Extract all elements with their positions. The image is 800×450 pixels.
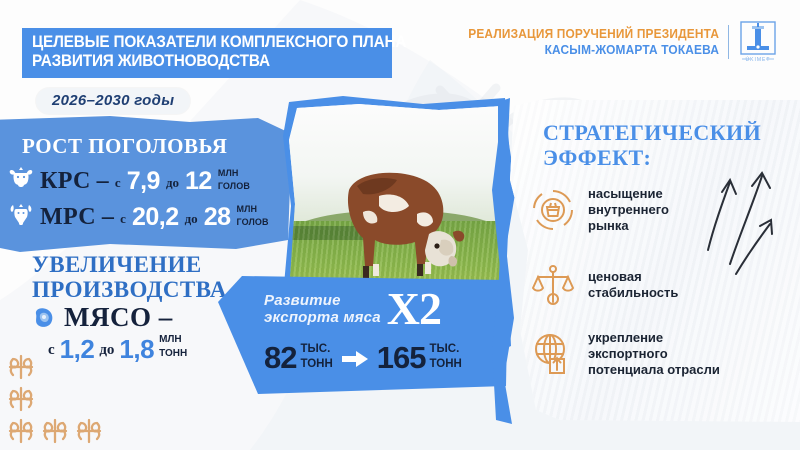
- export-from-unit: ТЫС. ТОНН: [300, 343, 332, 373]
- president-mandate-line-1: РЕАЛИЗАЦИЯ ПОРУЧЕНИЙ ПРЕЗИДЕНТА: [468, 27, 719, 41]
- strategic-heading: СТРАТЕГИЧЕСКИЙ ЭФФЕКТ:: [543, 120, 761, 170]
- cattle-head-icon: [8, 166, 34, 192]
- strategic-item-1-line-3: рынка: [588, 218, 669, 234]
- strategic-item-3-line-2: экспортного: [588, 346, 720, 362]
- export-caption-line-2: экспорта мяса: [264, 309, 381, 326]
- strategic-item-2-line-1: ценовая: [588, 269, 678, 285]
- export-to-unit-line1: ТЫС.: [430, 343, 462, 358]
- livestock-from-krs: 7,9: [127, 168, 160, 194]
- livestock-dash-krs: –: [97, 168, 109, 194]
- export-to-value: 165: [377, 342, 426, 373]
- livestock-unit-krs: МЛН ГОЛОВ: [218, 169, 250, 194]
- livestock-label-mrs: МРС: [40, 204, 96, 230]
- president-mandate-text: РЕАЛИЗАЦИЯ ПОРУЧЕНИЙ ПРЕЗИДЕНТА КАСЫМ-ЖО…: [455, 27, 719, 57]
- livestock-to-mrs: 28: [204, 204, 231, 230]
- president-mandate-block: РЕАЛИЗАЦИЯ ПОРУЧЕНИЙ ПРЕЗИДЕНТА КАСЫМ-ЖО…: [455, 20, 782, 64]
- strategic-item-2-text: ценовая стабильность: [588, 269, 678, 301]
- export-to-unit-line2: ТОНН: [430, 358, 462, 373]
- divider: [728, 25, 729, 59]
- export-values-block: 82 ТЫС. ТОНН 165 ТЫС. ТОНН: [264, 342, 462, 373]
- production-unit-line2: ТОНН: [159, 349, 187, 363]
- globe-export-icon: [530, 331, 576, 377]
- livestock-unit-krs-line2: ГОЛОВ: [218, 182, 250, 195]
- export-from-unit-line2: ТОНН: [300, 358, 332, 373]
- strategic-item-1: насыщение внутреннего рынка: [530, 186, 669, 234]
- page-title-line-2: РАЗВИТИЯ ЖИВОТНОВОДСТВА: [32, 52, 356, 71]
- livestock-to-prefix-mrs: до: [185, 211, 198, 230]
- livestock-to-krs: 12: [185, 168, 212, 194]
- three-up-arrows-icon: [700, 168, 790, 278]
- export-caption: Развитие экспорта мяса: [264, 292, 381, 326]
- export-caption-block: Развитие экспорта мяса X2: [264, 288, 441, 330]
- livestock-from-prefix-krs: с: [115, 175, 121, 194]
- livestock-from-mrs: 20,2: [132, 204, 179, 230]
- export-multiplier: X2: [387, 288, 441, 330]
- infographic-canvas: ЦЕЛЕВЫЕ ПОКАЗАТЕЛИ КОМПЛЕКСНОГО ПЛАНА РА…: [0, 0, 800, 450]
- strategic-item-1-line-2: внутреннего: [588, 202, 669, 218]
- production-unit: МЛН ТОНН: [159, 335, 187, 362]
- page-title-line-1: ЦЕЛЕВЫЕ ПОКАЗАТЕЛИ КОМПЛЕКСНОГО ПЛАНА: [32, 33, 356, 52]
- strategic-item-3: укрепление экспортного потенциала отрасл…: [530, 330, 720, 378]
- production-heading-line-2: ПРОИЗВОДСТВА: [32, 277, 227, 302]
- livestock-row-mrs: МРС – с 20,2 до 28 МЛН ГОЛОВ: [8, 202, 269, 230]
- livestock-row-krs: КРС – с 7,9 до 12 МЛН ГОЛОВ: [8, 166, 250, 194]
- strategic-item-2: ценовая стабильность: [530, 262, 678, 308]
- strategic-heading-line-2: ЭФФЕКТ:: [543, 145, 761, 170]
- production-to: 1,8: [119, 336, 154, 362]
- scales-balance-icon: [530, 262, 576, 308]
- livestock-unit-mrs: МЛН ГОЛОВ: [237, 205, 269, 230]
- livestock-growth-panel: РОСТ ПОГОЛОВЬЯ КРС – с 7,9 до 12 МЛН ГОЛ…: [0, 116, 300, 256]
- livestock-label-krs: КРС: [40, 168, 91, 194]
- export-to-unit: ТЫС. ТОНН: [430, 343, 462, 373]
- strategic-item-3-line-3: потенциала отрасли: [588, 362, 720, 378]
- livestock-from-prefix-mrs: с: [120, 211, 126, 230]
- production-meat-label: МЯСО –: [64, 302, 173, 333]
- shopping-basket-icon: [530, 187, 576, 233]
- production-heading-line-1: УВЕЛИЧЕНИЕ: [32, 252, 227, 277]
- kazakh-ornament-icon: [4, 352, 114, 444]
- livestock-unit-mrs-line1: МЛН: [237, 205, 269, 218]
- page-title: ЦЕЛЕВЫЕ ПОКАЗАТЕЛИ КОМПЛЕКСНОГО ПЛАНА РА…: [22, 28, 392, 78]
- period-badge: 2026–2030 годы: [36, 88, 190, 114]
- strategic-item-1-line-1: насыщение: [588, 186, 669, 202]
- livestock-dash-mrs: –: [102, 204, 114, 230]
- goat-head-icon: [8, 202, 34, 228]
- livestock-unit-mrs-line2: ГОЛОВ: [237, 218, 269, 231]
- export-from-unit-line1: ТЫС.: [300, 343, 332, 358]
- export-development-panel: Развитие экспорта мяса X2 82 ТЫС. ТОНН 1…: [218, 276, 508, 400]
- government-building-icon: ÚKIMET: [738, 20, 782, 64]
- meat-cut-icon: [30, 304, 57, 331]
- livestock-unit-krs-line1: МЛН: [218, 169, 250, 182]
- livestock-to-prefix-krs: до: [166, 175, 179, 194]
- production-unit-line1: МЛН: [159, 335, 187, 349]
- cow-illustration-icon: [333, 156, 473, 296]
- strategic-item-1-text: насыщение внутреннего рынка: [588, 186, 669, 234]
- strategic-heading-line-1: СТРАТЕГИЧЕСКИЙ: [543, 120, 761, 145]
- strategic-item-3-text: укрепление экспортного потенциала отрасл…: [588, 330, 720, 378]
- export-caption-line-1: Развитие: [264, 292, 381, 309]
- livestock-heading: РОСТ ПОГОЛОВЬЯ: [22, 134, 227, 159]
- export-from-value: 82: [264, 342, 296, 373]
- strategic-item-3-line-1: укрепление: [588, 330, 720, 346]
- arrow-right-icon: [342, 350, 368, 368]
- production-heading: УВЕЛИЧЕНИЕ ПРОИЗВОДСТВА: [32, 252, 227, 302]
- president-mandate-line-2: КАСЫМ-ЖОМАРТА ТОКАЕВА: [468, 43, 719, 57]
- production-meat-row: МЯСО –: [30, 302, 173, 333]
- strategic-item-2-line-2: стабильность: [588, 285, 678, 301]
